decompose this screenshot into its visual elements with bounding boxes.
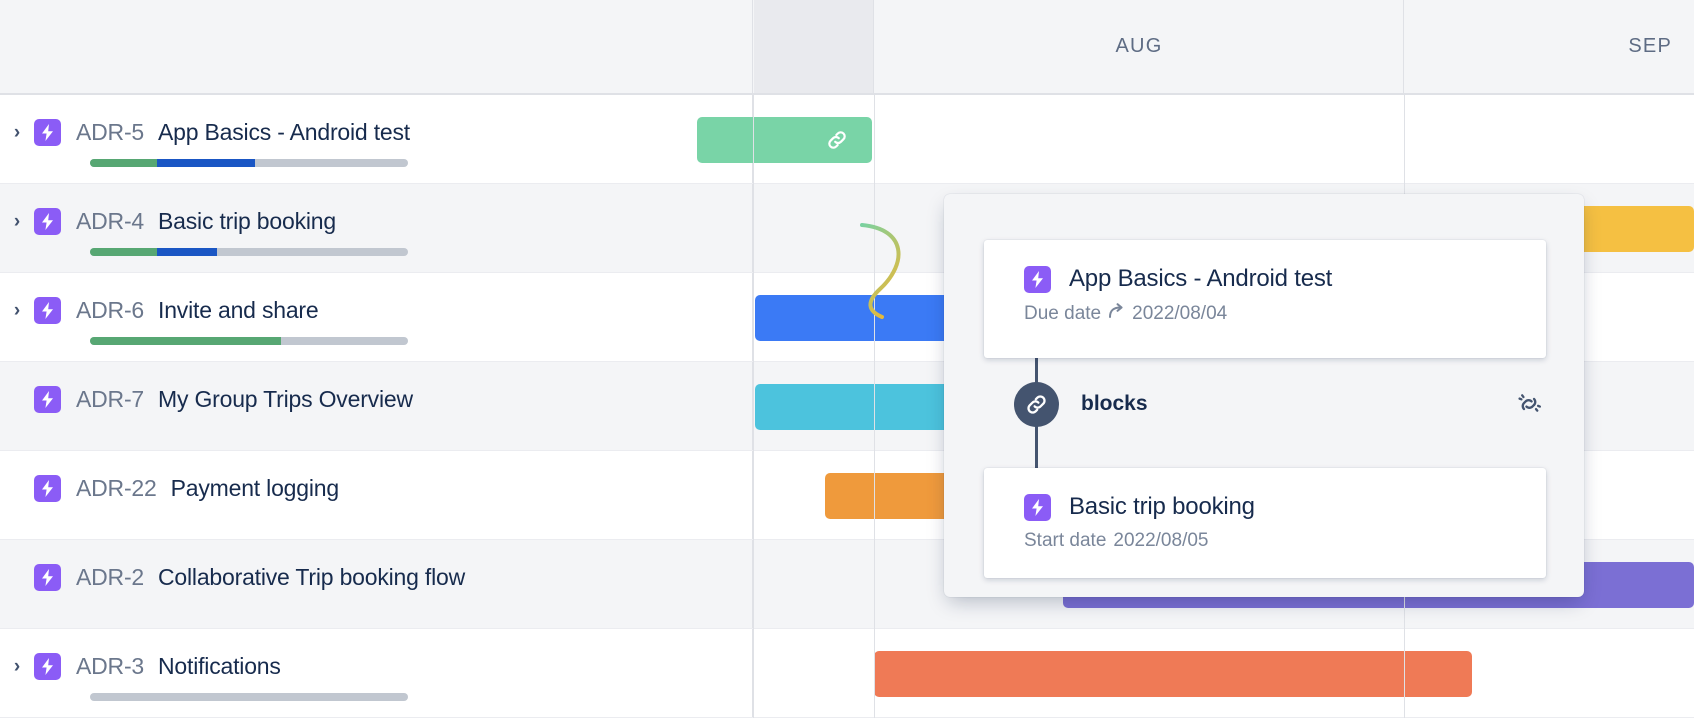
issue-summary[interactable]: App Basics - Android test <box>158 119 410 146</box>
month-label-sep: SEP <box>1628 35 1672 58</box>
row-header: ›ADR-3Notifications <box>0 651 281 681</box>
progress-segment-inprogress <box>157 159 256 167</box>
timeline-header: AUG SEP <box>0 0 1694 95</box>
issue-key[interactable]: ADR-3 <box>76 653 144 680</box>
progress-segment-done <box>90 248 157 256</box>
link-chain-icon[interactable] <box>824 127 850 153</box>
epic-bolt-icon <box>1024 266 1051 293</box>
row-header: ›ADR-5App Basics - Android test <box>0 117 410 147</box>
relationship-label: blocks <box>1081 392 1148 416</box>
issue-summary[interactable]: Basic trip booking <box>158 208 336 235</box>
progress-segment-done <box>90 159 157 167</box>
epic-bolt-icon <box>34 297 61 324</box>
row-issue-cell: ›ADR-6Invite and share <box>0 273 753 361</box>
target-card-title-row: Basic trip booking <box>984 468 1546 521</box>
table-row[interactable]: ›ADR-5App Basics - Android test <box>0 95 1694 184</box>
issue-summary[interactable]: Collaborative Trip booking flow <box>158 564 465 591</box>
dependency-relationship-row: blocks <box>1014 380 1546 428</box>
issue-key[interactable]: ADR-4 <box>76 208 144 235</box>
issue-summary[interactable]: My Group Trips Overview <box>158 386 413 413</box>
progress-segment-inprogress <box>157 248 217 256</box>
table-row[interactable]: ›ADR-3Notifications <box>0 629 1694 718</box>
month-column-aug: AUG <box>875 0 1404 93</box>
issue-summary[interactable]: Payment logging <box>171 475 339 502</box>
grid-line-aug-start <box>874 95 875 718</box>
progress-segment-done <box>90 337 281 345</box>
progress-bar <box>90 159 408 167</box>
source-card-title: App Basics - Android test <box>1069 265 1332 293</box>
row-header: ›ADR-2Collaborative Trip booking flow <box>0 562 465 592</box>
source-date-value: 2022/08/04 <box>1132 303 1227 325</box>
row-issue-cell: ›ADR-7My Group Trips Overview <box>0 362 753 450</box>
issue-key[interactable]: ADR-22 <box>76 475 157 502</box>
epic-bolt-icon <box>34 386 61 413</box>
unlink-icon[interactable] <box>1512 387 1546 421</box>
month-label-aug: AUG <box>1116 35 1163 58</box>
progress-bar <box>90 337 408 345</box>
row-issue-cell: ›ADR-3Notifications <box>0 629 753 717</box>
issue-summary[interactable]: Notifications <box>158 653 281 680</box>
progress-bar <box>90 248 408 256</box>
source-card-subtitle: Due date 2022/08/04 <box>984 302 1546 325</box>
epic-bolt-icon <box>34 119 61 146</box>
epic-bolt-icon <box>34 653 61 680</box>
target-card-title: Basic trip booking <box>1069 493 1255 521</box>
gantt-timeline-view: AUG SEP ›ADR-5App Basics - Android test›… <box>0 0 1694 718</box>
issue-key[interactable]: ADR-6 <box>76 297 144 324</box>
header-weekend-column <box>754 0 874 93</box>
issue-key[interactable]: ADR-5 <box>76 119 144 146</box>
row-issue-cell: ›ADR-22Payment logging <box>0 451 753 539</box>
chevron-right-icon[interactable]: › <box>0 657 34 676</box>
progress-bar <box>90 693 408 701</box>
gantt-bar[interactable] <box>1566 206 1694 252</box>
epic-bolt-icon <box>1024 494 1051 521</box>
source-date-label: Due date <box>1024 303 1101 325</box>
month-column-sep: SEP <box>1405 0 1694 93</box>
chevron-right-icon[interactable]: › <box>0 301 34 320</box>
row-issue-cell: ›ADR-2Collaborative Trip booking flow <box>0 540 753 628</box>
dependency-source-card[interactable]: App Basics - Android test Due date 2022/… <box>984 240 1546 358</box>
grid-line-issue-divider <box>753 95 754 718</box>
due-date-arrow-icon <box>1108 302 1125 325</box>
row-header: ›ADR-6Invite and share <box>0 295 318 325</box>
target-date-value: 2022/08/05 <box>1113 530 1208 552</box>
chevron-right-icon[interactable]: › <box>0 212 34 231</box>
target-date-label: Start date <box>1024 530 1106 552</box>
link-chain-icon <box>1014 382 1059 427</box>
issue-key[interactable]: ADR-7 <box>76 386 144 413</box>
row-issue-cell: ›ADR-4Basic trip booking <box>0 184 753 272</box>
epic-bolt-icon <box>34 475 61 502</box>
gantt-bar[interactable] <box>697 117 872 163</box>
epic-bolt-icon <box>34 564 61 591</box>
issue-summary[interactable]: Invite and share <box>158 297 318 324</box>
dependency-target-card[interactable]: Basic trip booking Start date 2022/08/05 <box>984 468 1546 578</box>
epic-bolt-icon <box>34 208 61 235</box>
target-card-subtitle: Start date 2022/08/05 <box>984 530 1546 552</box>
row-issue-cell: ›ADR-5App Basics - Android test <box>0 95 753 183</box>
row-header: ›ADR-4Basic trip booking <box>0 206 336 236</box>
source-card-title-row: App Basics - Android test <box>984 240 1546 293</box>
row-header: ›ADR-22Payment logging <box>0 473 339 503</box>
row-header: ›ADR-7My Group Trips Overview <box>0 384 413 414</box>
issue-key[interactable]: ADR-2 <box>76 564 144 591</box>
header-issue-column <box>0 0 753 93</box>
chevron-right-icon[interactable]: › <box>0 123 34 142</box>
gantt-bar[interactable] <box>874 651 1472 697</box>
